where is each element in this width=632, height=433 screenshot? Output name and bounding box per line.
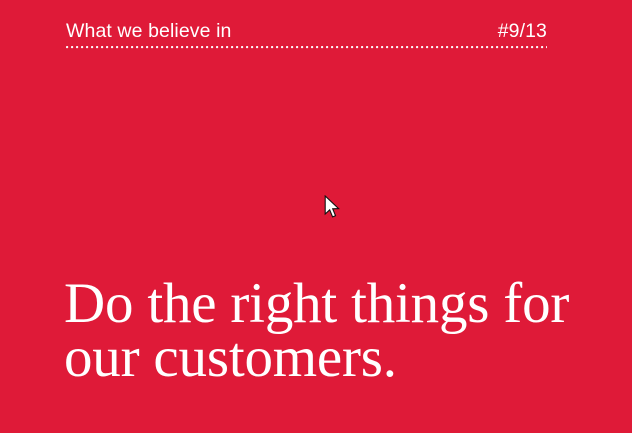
headline-line-2: our customers.: [64, 331, 594, 385]
arrow-pointer-icon: [324, 195, 342, 221]
header-dotted-divider: [66, 46, 547, 49]
headline-line-1: Do the right things for: [64, 277, 594, 331]
slide-headline: Do the right things for our customers.: [64, 277, 594, 385]
header-row: What we believe in #9/13: [66, 18, 547, 44]
presentation-slide: What we believe in #9/13 Do the right th…: [0, 0, 632, 433]
slide-header: What we believe in #9/13: [66, 18, 547, 48]
slide-section-title: What we believe in: [66, 18, 231, 44]
slide-page-number: #9/13: [498, 18, 547, 44]
